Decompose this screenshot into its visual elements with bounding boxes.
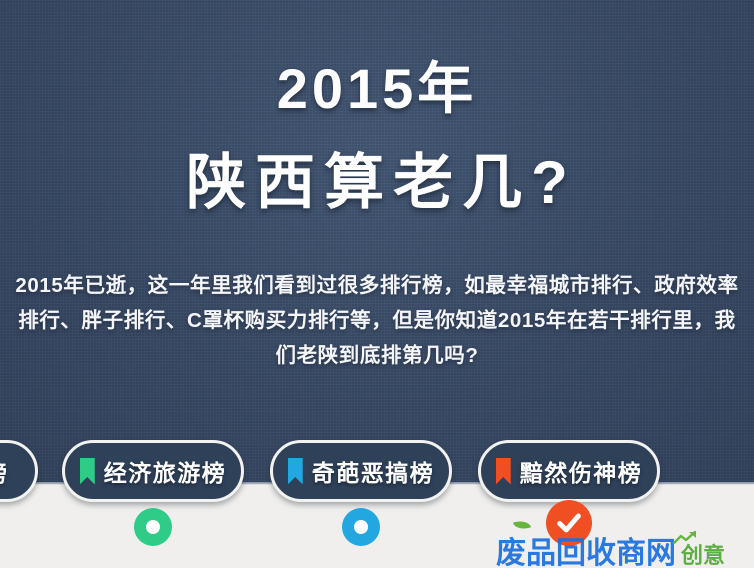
page-title-year: 2015年 bbox=[0, 58, 754, 120]
tab-indicator-quirky-spoof[interactable] bbox=[342, 508, 380, 546]
tab-label-2: 奇葩恶搞榜 bbox=[312, 454, 435, 488]
tab-ranking-0[interactable]: 榜 bbox=[0, 440, 38, 502]
tab-ranking-melancholy[interactable]: 黯然伤神榜 bbox=[478, 440, 660, 502]
bookmark-icon bbox=[496, 458, 511, 485]
infographic-page: 2015年 陕西算老几? 2015年已逝，这一年里我们看到过很多排行榜，如最幸福… bbox=[0, 0, 754, 568]
intro-paragraph-text: 2015年已逝，这一年里我们看到过很多排行榜，如最幸福城市排行、政府效率排行、胖… bbox=[12, 268, 742, 373]
tab-ranking-quirky-spoof[interactable]: 奇葩恶搞榜 bbox=[270, 440, 452, 502]
page-title-main: 陕西算老几? bbox=[0, 148, 754, 218]
indicator-core bbox=[146, 520, 160, 534]
tab-label-1: 经济旅游榜 bbox=[104, 454, 227, 488]
tab-ranking-economy-travel[interactable]: 经济旅游榜 bbox=[62, 440, 244, 502]
bookmark-icon bbox=[80, 458, 95, 485]
intro-paragraph: 2015年已逝，这一年里我们看到过很多排行榜，如最幸福城市排行、政府效率排行、胖… bbox=[0, 268, 754, 373]
growth-arrow-icon bbox=[672, 530, 698, 546]
indicator-core bbox=[354, 520, 368, 534]
watermark: 废品回收商网 创意 bbox=[496, 528, 725, 568]
tab-indicator-economy-travel[interactable] bbox=[134, 508, 172, 546]
bookmark-icon bbox=[288, 458, 303, 485]
tab-label-0: 榜 bbox=[0, 454, 8, 488]
watermark-primary-text: 废品回收商网 bbox=[496, 528, 676, 568]
tab-label-3: 黯然伤神榜 bbox=[520, 454, 643, 488]
